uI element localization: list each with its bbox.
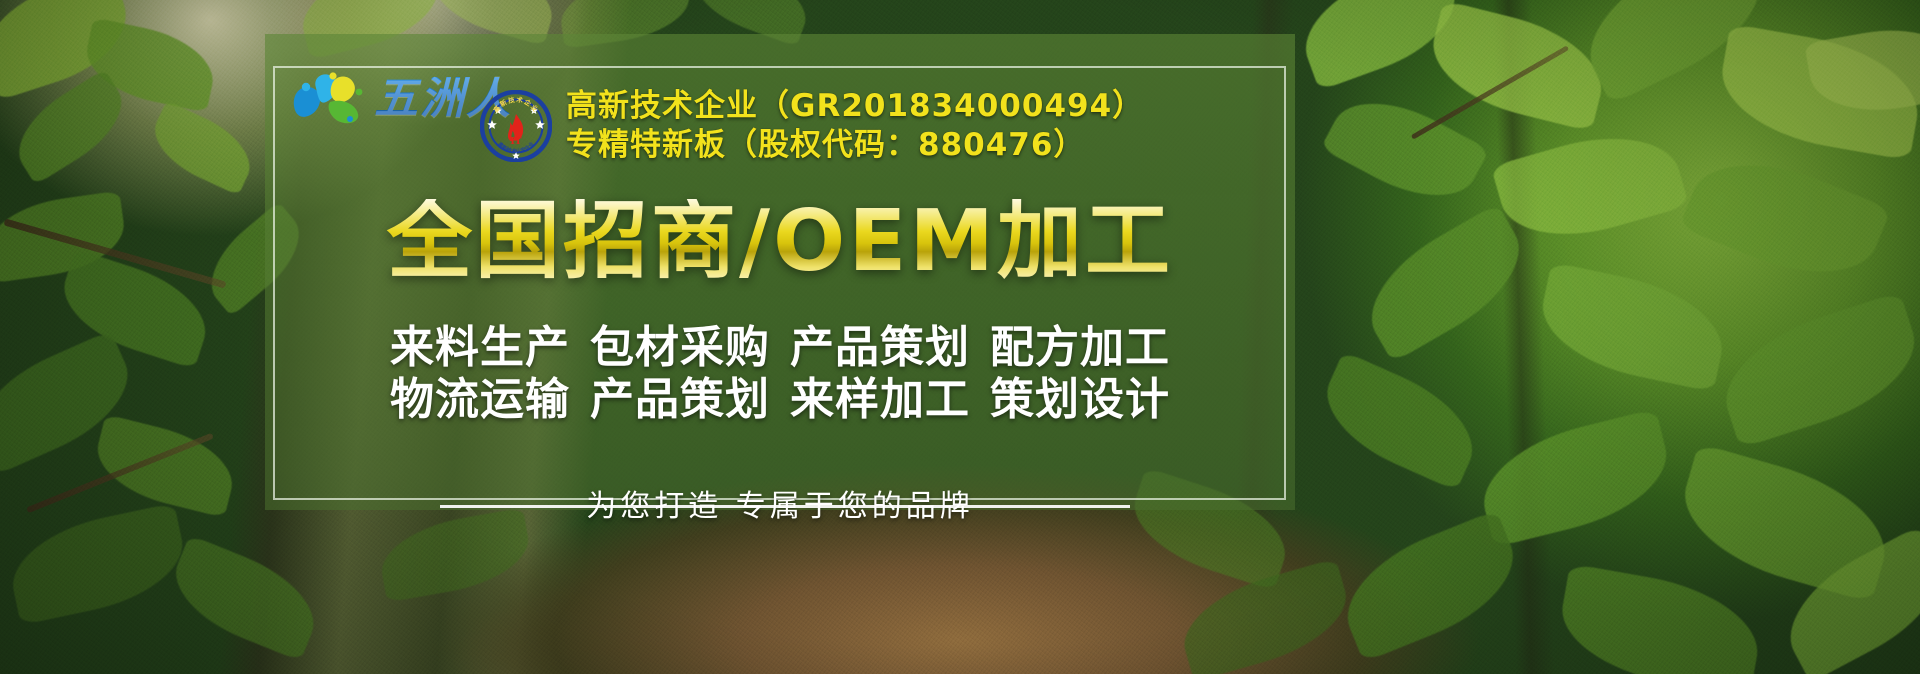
svg-text:IT: IT [511,137,522,147]
page-title: 全国招商/OEM加工 [265,199,1295,284]
promo-banner: 五洲人 IT [0,0,1920,674]
banner-content: 五洲人 IT [265,34,1295,510]
service-item: 策划设计 [990,374,1170,425]
brand-logo[interactable]: 五洲人 [290,72,512,126]
butterfly-leaf-emblem-icon [290,72,368,126]
service-item: 来样加工 [790,374,970,425]
certification-lines: 高新技术企业（GR201834000494） 专精特新板（股权代码：880476… [566,88,1144,163]
tagline: 为您打造 专属于您的品牌 [265,481,1295,525]
certification-line-1: 高新技术企业（GR201834000494） [566,88,1144,125]
service-item: 包材采购 [590,322,770,373]
service-row-1: 来料生产包材采购产品策划配方加工 [265,322,1295,374]
service-item: 产品策划 [790,322,970,373]
certification-row: IT 高新技术企业 高新技术认定企业 [480,88,1144,163]
divider [440,505,1130,508]
service-item: 产品策划 [590,374,770,425]
service-row-2: 物流运输产品策划来样加工策划设计 [265,374,1295,426]
service-item: 来料生产 [390,322,570,373]
service-item: 物流运输 [390,374,570,425]
service-item: 配方加工 [990,322,1170,373]
high-tech-enterprise-seal-icon: IT 高新技术企业 高新技术认定企业 [480,90,552,162]
certification-line-2: 专精特新板（股权代码：880476） [566,127,1144,164]
service-list: 来料生产包材采购产品策划配方加工 物流运输产品策划来样加工策划设计 [265,322,1295,426]
